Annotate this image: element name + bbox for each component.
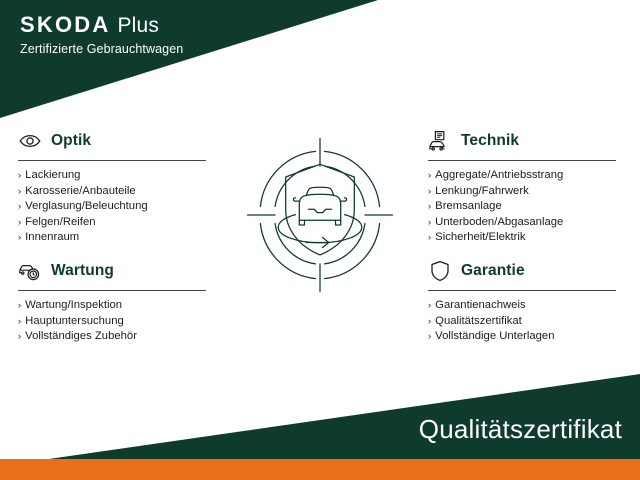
list-item: ›Qualitätszertifikat [428, 314, 624, 330]
section-optik-header: Optik [18, 128, 214, 154]
list-item: ›Innenraum [18, 230, 214, 246]
section-wartung-divider [18, 290, 206, 291]
list-item: ›Lenkung/Fahrwerk [428, 184, 624, 200]
list-item-label: Wartung/Inspektion [25, 298, 122, 314]
list-item: ›Wartung/Inspektion [18, 298, 214, 314]
chevron-right-icon: › [428, 199, 431, 215]
list-item-label: Qualitätszertifikat [435, 314, 522, 330]
chevron-right-icon: › [18, 184, 21, 200]
chevron-right-icon: › [18, 168, 21, 184]
list-item-label: Karosserie/Anbauteile [25, 184, 136, 200]
shield-icon [428, 259, 452, 283]
list-item: ›Garantienachweis [428, 298, 624, 314]
chevron-right-icon: › [18, 215, 21, 231]
section-garantie: Garantie ›Garantienachweis ›Qualitätszer… [428, 258, 624, 345]
list-item: ›Lackierung [18, 168, 214, 184]
list-item-label: Hauptuntersuchung [25, 314, 124, 330]
bottom-orange-bar [0, 459, 640, 480]
section-optik-divider [18, 160, 206, 161]
list-item: ›Felgen/Reifen [18, 215, 214, 231]
chevron-right-icon: › [428, 215, 431, 231]
section-garantie-title: Garantie [461, 263, 525, 279]
certificate-page: SKODA Plus Zertifizierte Gebrauchtwagen … [0, 0, 640, 480]
eye-icon [18, 129, 42, 153]
car-front-icon [294, 187, 347, 225]
brand-subtitle: Zertifizierte Gebrauchtwagen [20, 43, 183, 57]
list-item-label: Lenkung/Fahrwerk [435, 184, 529, 200]
brand-logo: SKODA Plus Zertifizierte Gebrauchtwagen [20, 14, 183, 57]
chevron-right-icon: › [428, 184, 431, 200]
section-garantie-list: ›Garantienachweis ›Qualitätszertifikat ›… [428, 298, 624, 345]
shield-outline [286, 164, 355, 255]
list-item: ›Sicherheit/Elektrik [428, 230, 624, 246]
section-optik-title: Optik [51, 133, 91, 149]
section-wartung-title: Wartung [51, 263, 114, 279]
list-item-label: Felgen/Reifen [25, 215, 95, 231]
footer-caption: Qualitätszertifikat [419, 416, 622, 442]
brand-logo-line: SKODA Plus [20, 14, 183, 36]
chevron-right-icon: › [428, 314, 431, 330]
chevron-right-icon: › [18, 199, 21, 215]
section-technik-title: Technik [461, 133, 519, 149]
list-item: ›Verglasung/Beleuchtung [18, 199, 214, 215]
list-item-label: Unterboden/Abgasanlage [435, 215, 563, 231]
inner-ring [275, 166, 365, 264]
list-item: ›Aggregate/Antriebsstrang [428, 168, 624, 184]
section-technik: Technik ›Aggregate/Antriebsstrang ›Lenku… [428, 128, 624, 246]
section-wartung-list: ›Wartung/Inspektion ›Hauptuntersuchung ›… [18, 298, 214, 345]
chevron-right-icon: › [18, 298, 21, 314]
section-garantie-header: Garantie [428, 258, 624, 284]
chevron-right-icon: › [428, 298, 431, 314]
list-item: ›Vollständiges Zubehör [18, 329, 214, 345]
list-item-label: Vollständiges Zubehör [25, 329, 137, 345]
section-optik: Optik ›Lackierung ›Karosserie/Anbauteile… [18, 128, 214, 246]
ring-spokes [248, 139, 393, 292]
outer-ring [260, 151, 379, 278]
list-item-label: Sicherheit/Elektrik [435, 230, 525, 246]
chevron-right-icon: › [428, 329, 431, 345]
brand-name: SKODA [20, 14, 110, 36]
list-item-label: Vollständige Unterlagen [435, 329, 554, 345]
list-item-label: Bremsanlage [435, 199, 502, 215]
list-item-label: Verglasung/Beleuchtung [25, 199, 147, 215]
list-item: ›Hauptuntersuchung [18, 314, 214, 330]
list-item-label: Innenraum [25, 230, 79, 246]
list-item-label: Garantienachweis [435, 298, 525, 314]
list-item: ›Unterboden/Abgasanlage [428, 215, 624, 231]
car-document-icon [428, 129, 452, 153]
section-garantie-divider [428, 290, 616, 291]
chevron-right-icon: › [428, 168, 431, 184]
section-technik-list: ›Aggregate/Antriebsstrang ›Lenkung/Fahrw… [428, 168, 624, 246]
list-item: ›Bremsanlage [428, 199, 624, 215]
section-technik-divider [428, 160, 616, 161]
chevron-right-icon: › [428, 230, 431, 246]
section-optik-list: ›Lackierung ›Karosserie/Anbauteile ›Verg… [18, 168, 214, 246]
car-service-clock-icon [18, 259, 42, 283]
section-technik-header: Technik [428, 128, 624, 154]
list-item: ›Vollständige Unterlagen [428, 329, 624, 345]
section-wartung-header: Wartung [18, 258, 214, 284]
list-item-label: Lackierung [25, 168, 80, 184]
section-wartung: Wartung ›Wartung/Inspektion ›Hauptunters… [18, 258, 214, 345]
chevron-right-icon: › [18, 230, 21, 246]
chevron-right-icon: › [18, 329, 21, 345]
brand-suffix: Plus [117, 15, 159, 36]
shield-car-circles-emblem [242, 125, 398, 305]
list-item-label: Aggregate/Antriebsstrang [435, 168, 563, 184]
list-item: ›Karosserie/Anbauteile [18, 184, 214, 200]
chevron-right-icon: › [18, 314, 21, 330]
